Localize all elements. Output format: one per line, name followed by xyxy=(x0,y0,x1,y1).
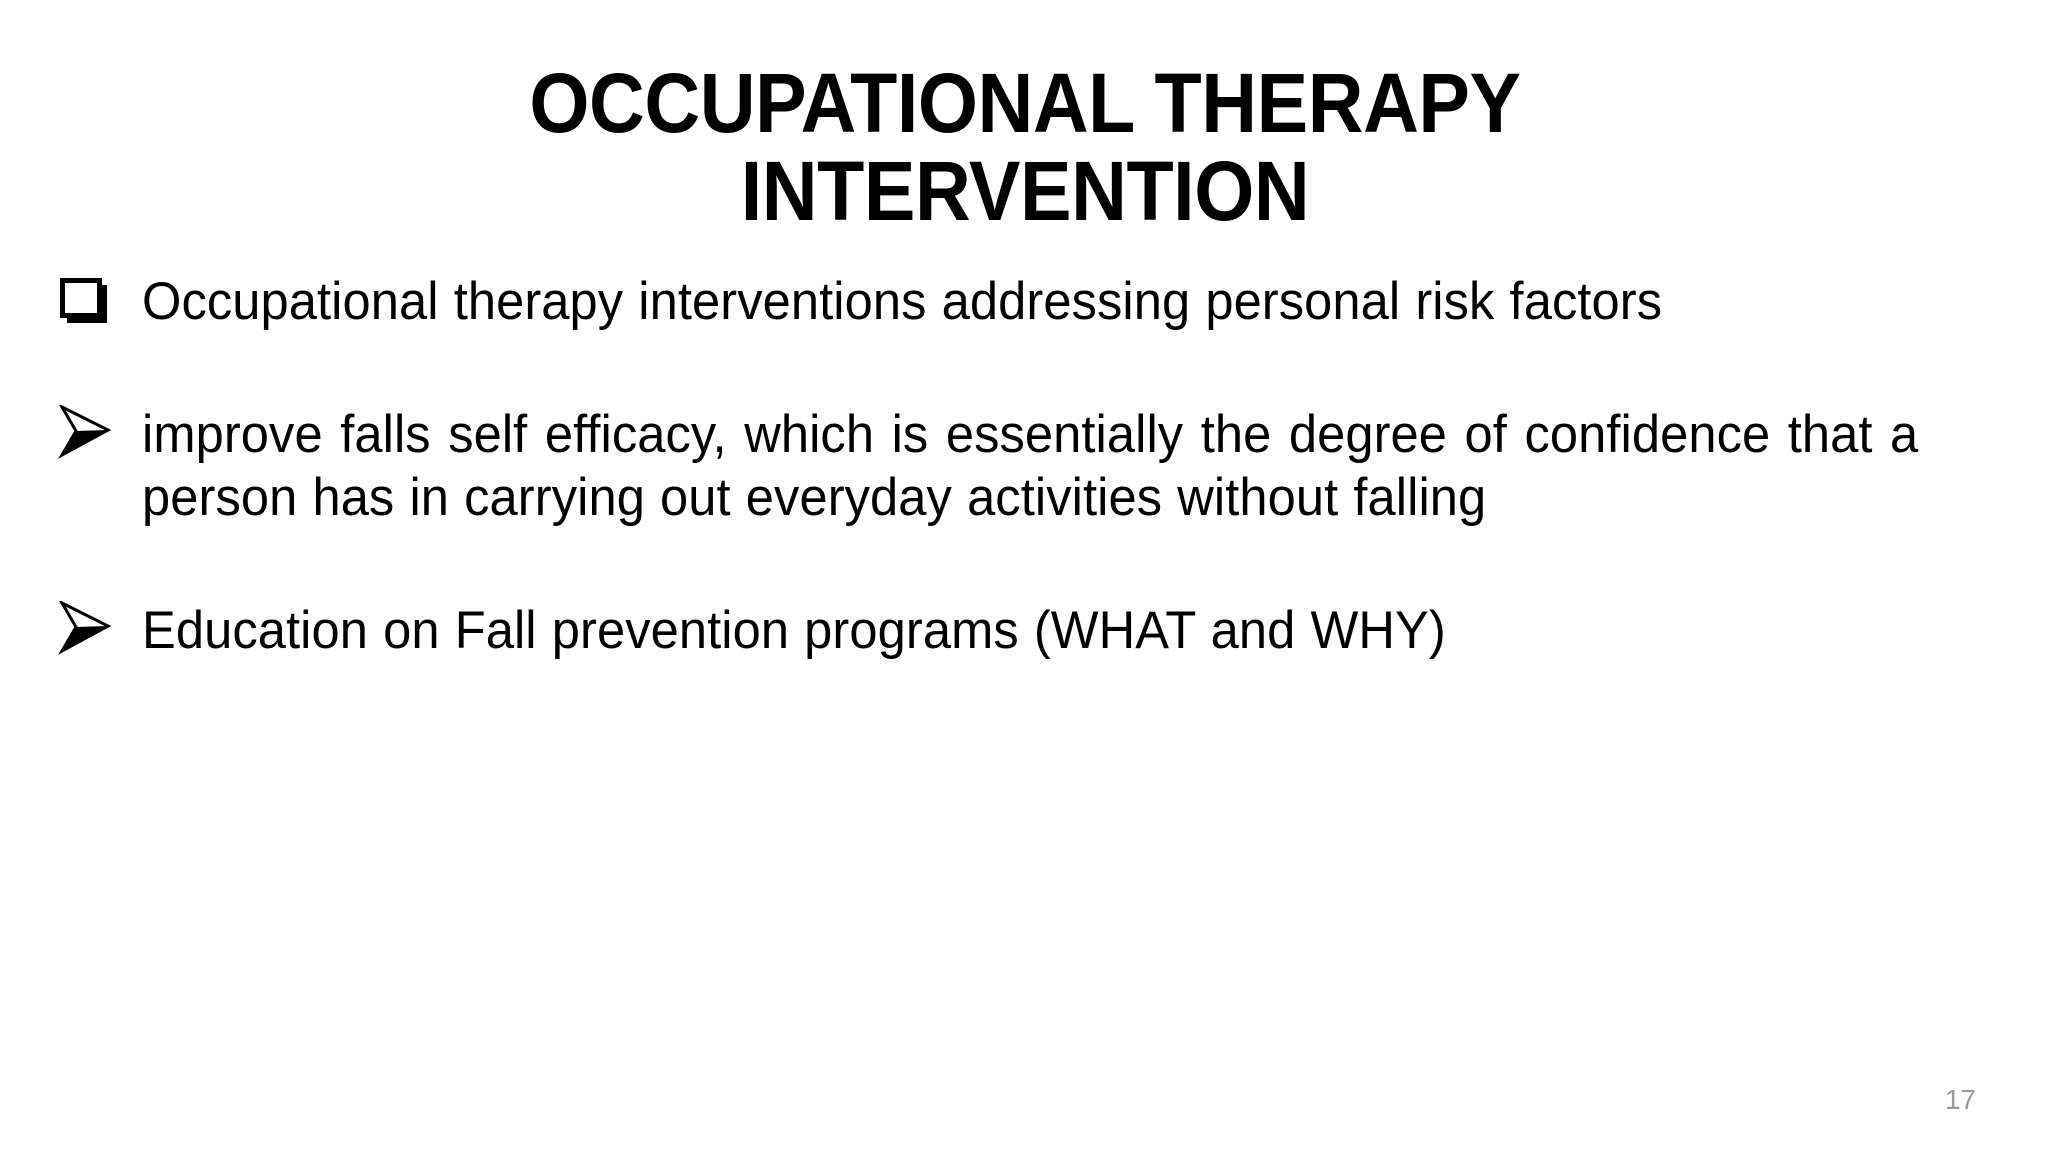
list-item-text: Occupational therapy interventions addre… xyxy=(142,270,1918,333)
list-item-text: improve falls self efficacy, which is es… xyxy=(142,403,1918,529)
square-bullet-icon xyxy=(52,270,126,330)
list-item: improve falls self efficacy, which is es… xyxy=(52,403,2002,529)
list-item-text: Education on Fall prevention programs (W… xyxy=(142,599,1918,662)
slide-number: 17 xyxy=(1945,1084,1976,1116)
list-item: Occupational therapy interventions addre… xyxy=(52,270,2002,333)
arrow-bullet-icon xyxy=(52,403,126,463)
arrow-bullet-icon xyxy=(52,599,126,659)
page-title: OCCUPATIONAL THERAPY INTERVENTION xyxy=(257,60,1793,235)
bullet-list: Occupational therapy interventions addre… xyxy=(52,270,2002,662)
list-item: Education on Fall prevention programs (W… xyxy=(52,599,2002,662)
slide-canvas: OCCUPATIONAL THERAPY INTERVENTION Occupa… xyxy=(0,0,2048,1152)
